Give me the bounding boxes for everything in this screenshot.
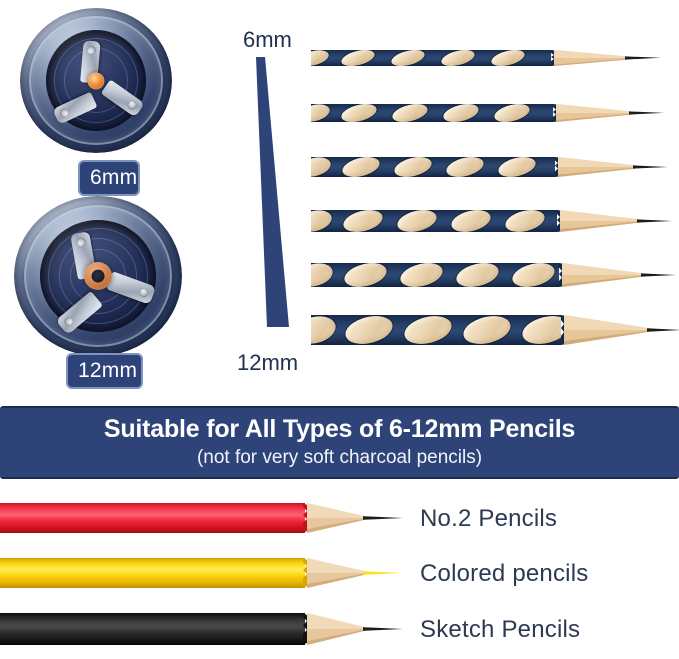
sharpener-6mm-illustration: 6mm (20, 8, 200, 153)
pencil-shaft (0, 503, 305, 533)
pencil-row-9mm (311, 205, 679, 237)
pencil-tip (551, 99, 679, 127)
pencil-type-label: Sketch Pencils (420, 616, 580, 644)
taper-wedge-graphic (240, 55, 300, 340)
sharpener-12mm-illustration: 12mm (14, 196, 209, 356)
pencil-dot (510, 263, 557, 287)
pencil-shaft (0, 613, 305, 645)
pencil-dot (392, 157, 433, 177)
sharpener-6mm-hole (20, 8, 172, 153)
pencil-type-label: No.2 Pencils (420, 505, 557, 533)
pencil-dot (461, 315, 514, 345)
wedge-top-label: 6mm (243, 27, 292, 53)
pencil-tip (303, 608, 423, 650)
pencil-tip (303, 498, 423, 538)
pencil-type-no2: No.2 Pencils (0, 498, 679, 546)
pencil-body (311, 315, 561, 345)
pencil-dot (311, 50, 330, 66)
pencil-dot (493, 104, 532, 122)
pencil-dot (490, 50, 526, 66)
pencil-row-12mm (311, 310, 679, 350)
pencil-body (311, 210, 557, 232)
pencil-row-7mm (311, 99, 679, 127)
pencil-type-label: Colored pencils (420, 560, 588, 588)
pencil-shaft (0, 558, 305, 588)
banner-title: Suitable for All Types of 6-12mm Pencils (104, 416, 575, 444)
sharpener-hub (84, 262, 112, 290)
sharpener-12mm-hole (14, 196, 182, 356)
pencil-dot (449, 210, 493, 232)
pencil-body (311, 104, 553, 122)
pencil-dot (311, 315, 339, 345)
pencil-dot (341, 210, 385, 232)
pencil-dot (442, 104, 481, 122)
size-label-12mm: 12mm (66, 353, 143, 389)
pencil-type-sketch: Sketch Pencils (0, 608, 679, 659)
pencil-tip (553, 152, 679, 182)
size-label-6mm: 6mm (78, 160, 140, 196)
pencil-tip (559, 310, 679, 350)
pencil-dot (444, 157, 485, 177)
pencil-dot (311, 263, 335, 287)
pencil-dot (398, 263, 445, 287)
pencil-body (311, 50, 551, 66)
feature-banner: Suitable for All Types of 6-12mm Pencils… (0, 406, 679, 479)
pencil-dot (311, 104, 331, 122)
pencil-row-8mm (311, 152, 679, 182)
pencil-dot (454, 263, 501, 287)
pencil-dot (311, 210, 334, 232)
pencil-dot (343, 315, 396, 345)
pencil-tip (549, 45, 679, 71)
pencil-tip (555, 205, 679, 237)
pencil-dot (342, 263, 389, 287)
pencil-dot (391, 104, 430, 122)
pencil-dot (340, 157, 381, 177)
pencil-dot (395, 210, 439, 232)
pencil-dot (390, 50, 426, 66)
banner-subtitle: (not for very soft charcoal pencils) (197, 447, 482, 469)
pencil-row-10mm (311, 258, 679, 292)
pencil-body (311, 263, 559, 287)
pencil-dot (503, 210, 547, 232)
pencil-body (311, 157, 555, 177)
pencil-tip (303, 553, 423, 593)
product-feature-graphic: 6mm 12mm 6mm 12mm (0, 0, 679, 659)
pencil-type-colored: Colored pencils (0, 553, 679, 601)
pencil-dot (440, 50, 476, 66)
pencil-tip (557, 258, 679, 292)
pencil-dot (402, 315, 455, 345)
pencil-dot (311, 157, 333, 177)
pencil-dot (340, 50, 376, 66)
pencil-dot (520, 315, 561, 345)
wedge-bottom-label: 12mm (237, 350, 298, 376)
pencil-dot (496, 157, 537, 177)
pencil-dot (340, 104, 379, 122)
pencil-row-6mm (311, 45, 679, 71)
sharpener-hub (88, 72, 105, 89)
